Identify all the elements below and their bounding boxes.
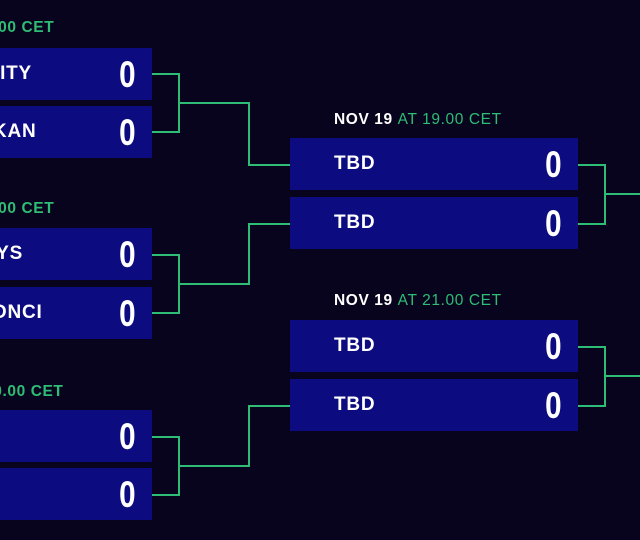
round1-match-1-team-2-row[interactable]: ALKAN 0 <box>0 106 152 158</box>
round1-match-3-team-2-row[interactable]: 0 <box>0 468 152 520</box>
connector-r2m2-feed-bottom-in <box>248 405 290 407</box>
round2-match-1-header: NOV 19 AT 19.00 CET <box>334 111 502 129</box>
round2-match-2-team-1-row[interactable]: TBD 0 <box>290 320 578 372</box>
connector-r1m1-out <box>178 102 250 104</box>
connector-r1m1-bottom-stub <box>152 131 180 133</box>
connector-r2m2-bottom-stub <box>578 405 606 407</box>
round1-match-2-team-1-name: BOYS <box>0 243 115 265</box>
connector-r2m1-feed-top-in <box>248 164 290 166</box>
connector-r1m1-top-stub <box>152 73 180 75</box>
round2-match-1-date: NOV 19 <box>334 111 393 128</box>
round1-match-1-team-1-name: VINITY <box>0 63 115 85</box>
round2-match-1-time: AT 19.00 CET <box>398 111 502 128</box>
round2-match-2-date: NOV 19 <box>334 292 393 309</box>
round2-match-2-team-2-score: 0 <box>546 387 562 424</box>
connector-r1m3-bottom-stub <box>152 494 180 496</box>
connector-r2m1-bottom-stub <box>578 223 606 225</box>
round1-match-2-team-2-name: NJONCI <box>0 302 115 324</box>
round2-match-2-time: AT 21.00 CET <box>398 292 502 309</box>
round1-match-2-team-2-score: 0 <box>120 295 136 332</box>
connector-r2m1-top-stub <box>578 164 606 166</box>
round2-match-1-team-2-row[interactable]: TBD 0 <box>290 197 578 249</box>
round1-match-2-time: 8.00 CET <box>0 200 54 218</box>
connector-r1m2-top-stub <box>152 254 180 256</box>
round2-match-1-team-1-score: 0 <box>546 146 562 183</box>
connector-r2m1-feed-bottom-in <box>248 223 290 225</box>
connector-r1m3-out <box>178 465 250 467</box>
round2-match-2-team-1-name: TBD <box>334 335 541 357</box>
round1-match-3-team-1-score: 0 <box>120 418 136 455</box>
round2-match-1-team-2-score: 0 <box>546 205 562 242</box>
round1-match-3-time: 20.00 CET <box>0 383 64 401</box>
round1-match-1-team-2-score: 0 <box>120 114 136 151</box>
round2-match-1-team-1-name: TBD <box>334 153 541 175</box>
connector-r2m2-top-stub <box>578 346 606 348</box>
round1-match-1-time: 7.00 CET <box>0 19 54 37</box>
connector-r2m1-feed-bottom-vertical <box>248 223 250 285</box>
connector-r2m2-out <box>604 375 640 377</box>
round2-match-2-team-1-score: 0 <box>546 328 562 365</box>
tournament-bracket: 7.00 CET VINITY 0 ALKAN 0 8.00 CET BOYS … <box>0 0 640 540</box>
round1-match-1-team-1-score: 0 <box>120 56 136 93</box>
round1-match-2-team-1-row[interactable]: BOYS 0 <box>0 228 152 280</box>
connector-r2m2-feed-bottom-vertical <box>248 405 250 467</box>
round2-match-2-header: NOV 19 AT 21.00 CET <box>334 292 502 310</box>
round2-match-2-team-2-row[interactable]: TBD 0 <box>290 379 578 431</box>
connector-r1m2-out <box>178 283 250 285</box>
round2-match-2-team-2-name: TBD <box>334 394 541 416</box>
round1-match-2-team-1-score: 0 <box>120 236 136 273</box>
connector-r1m2-bottom-stub <box>152 312 180 314</box>
round1-match-1-team-1-row[interactable]: VINITY 0 <box>0 48 152 100</box>
round1-match-1-team-2-name: ALKAN <box>0 121 115 143</box>
connector-r2m1-out <box>604 193 640 195</box>
connector-r1m3-top-stub <box>152 436 180 438</box>
round1-match-2-team-2-row[interactable]: NJONCI 0 <box>0 287 152 339</box>
round1-match-3-team-2-score: 0 <box>120 476 136 513</box>
connector-r2m1-feed-top-vertical <box>248 102 250 166</box>
round1-match-3-team-1-row[interactable]: 0 <box>0 410 152 462</box>
round2-match-1-team-2-name: TBD <box>334 212 541 234</box>
round2-match-1-team-1-row[interactable]: TBD 0 <box>290 138 578 190</box>
